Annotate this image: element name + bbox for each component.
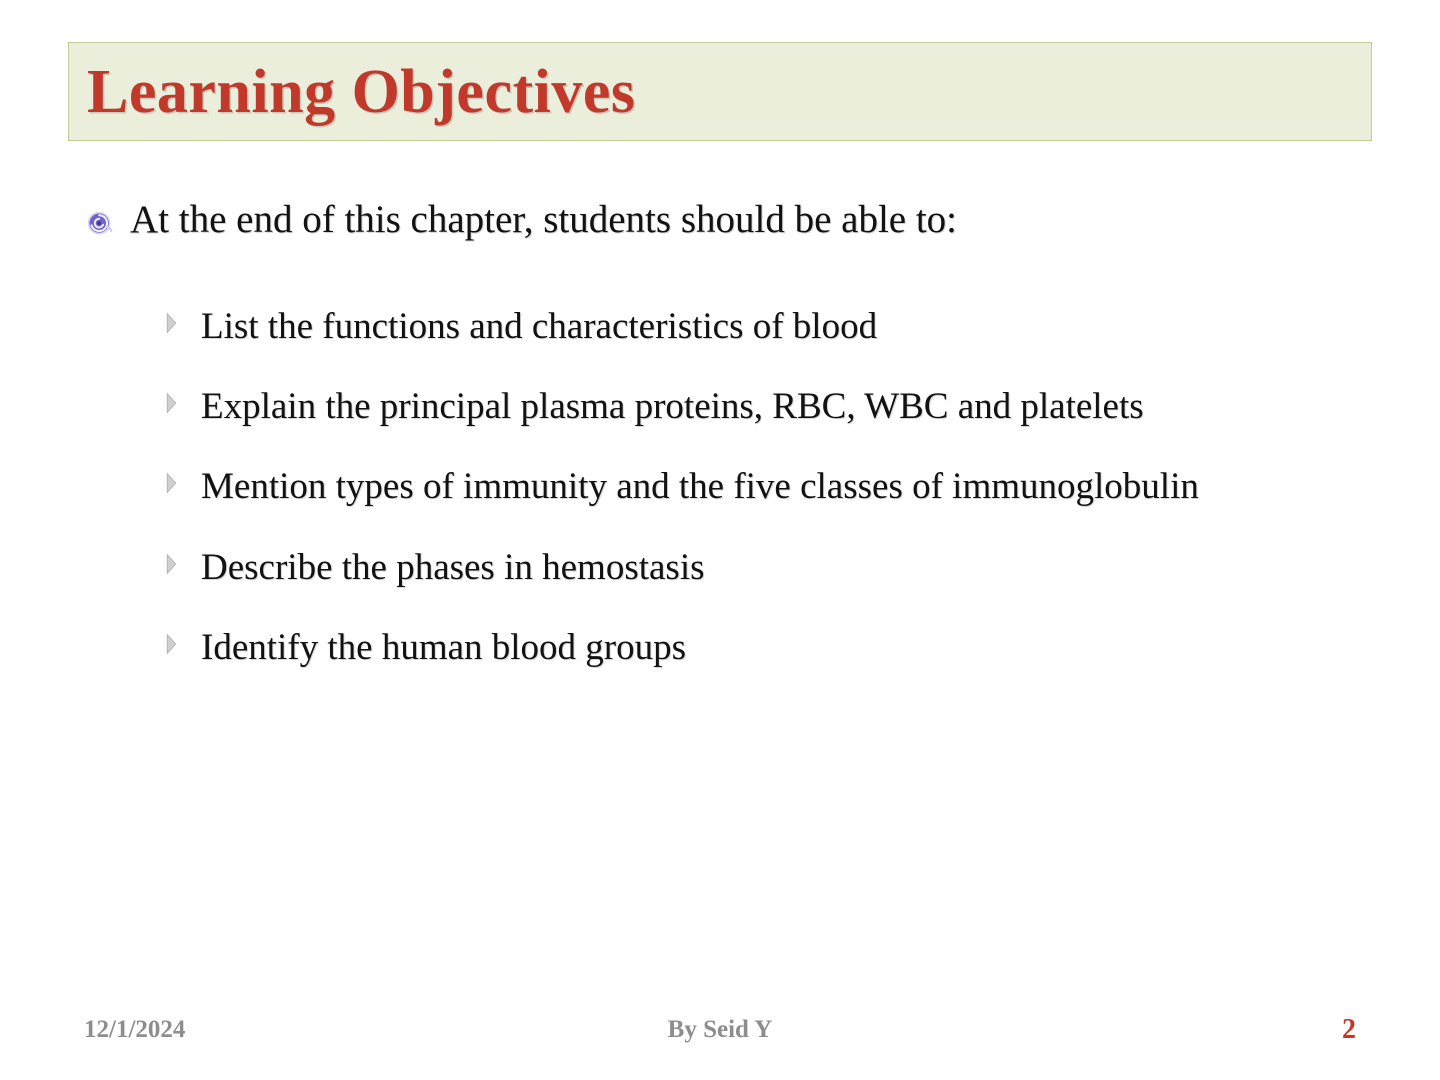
slide-page-number: 2 [1342,1014,1356,1046]
slide-footer: 12/1/2024 By Seid Y 2 [0,1008,1440,1058]
chevron-right-icon [163,302,201,335]
list-item: Explain the principal plasma proteins, R… [0,378,1440,436]
list-item: List the functions and characteristics o… [0,298,1440,356]
intro-line: At the end of this chapter, students sho… [0,196,1440,244]
chevron-right-icon [163,543,201,576]
slide-body: At the end of this chapter, students sho… [0,196,1440,700]
spiral-bullet-icon [86,210,114,238]
objective-text: Describe the phases in hemostasis [201,539,705,597]
list-item: Describe the phases in hemostasis [0,539,1440,597]
intro-text: At the end of this chapter, students sho… [130,196,957,244]
page-title: Learning Objectives [87,61,636,123]
slide-title-box: Learning Objectives [68,42,1372,141]
objective-text: Mention types of immunity and the five c… [201,458,1199,516]
chevron-right-icon [163,623,201,656]
chevron-right-icon [163,382,201,415]
objective-text: Identify the human blood groups [201,619,686,677]
presentation-slide: Learning Objectives At the end of this c… [0,0,1440,1080]
list-item: Mention types of immunity and the five c… [0,458,1440,516]
objective-text: List the functions and characteristics o… [201,298,877,356]
list-item: Identify the human blood groups [0,619,1440,677]
objective-text: Explain the principal plasma proteins, R… [201,378,1144,436]
footer-author: By Seid Y [0,1016,1440,1044]
chevron-right-icon [163,462,201,495]
